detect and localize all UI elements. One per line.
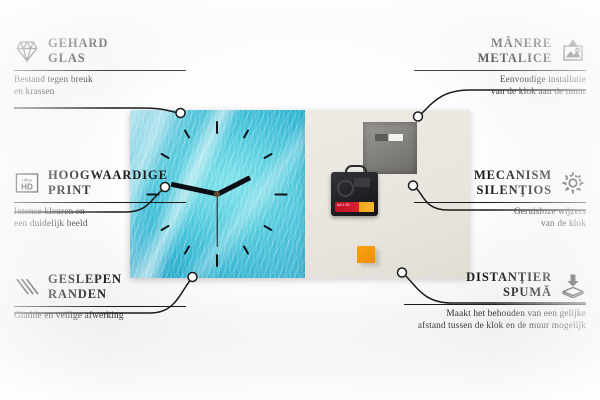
ultra-hd-icon: ultra HD <box>14 170 40 196</box>
foam-spacer <box>357 246 375 263</box>
callout-header-mecanism-silentios: MECANISM SILENŢIOS <box>414 168 586 199</box>
callout-rule <box>414 70 586 71</box>
infographic-canvas: AA 1.5V <box>0 0 600 400</box>
diamond-icon <box>14 38 40 64</box>
callout-hoogwaardige-print: ultra HD HOOGWAARDIGE PRINT Intense kleu… <box>14 168 186 231</box>
picture-hanger-icon <box>560 38 586 64</box>
callout-rule <box>414 202 586 203</box>
metal-hanger-plate <box>363 122 417 174</box>
callout-desc-distantier-spuma: Maakt het behouden van een gelijke afsta… <box>404 308 586 333</box>
callout-rule <box>14 70 186 71</box>
callout-mecanism-silentios: MECANISM SILENŢIOS Geruisloze wijzers va… <box>414 168 586 231</box>
callout-rule <box>404 304 586 305</box>
callout-desc-geslepen-randen: Gladde en veilige afwerking <box>14 310 186 322</box>
callout-title-manere-metalice: MÂNERE METALICE <box>478 36 552 67</box>
gear-icon <box>560 170 586 196</box>
foam-spacer-icon <box>560 272 586 298</box>
callout-desc-gehard-glas: Bestand tegen breuk en krassen <box>14 74 186 99</box>
battery-label: AA 1.5V <box>335 202 374 212</box>
callout-distantier-spuma: DISTANŢIER SPUMĂ Maakt het behouden van … <box>404 270 586 333</box>
svg-text:HD: HD <box>21 183 33 192</box>
callout-title-mecanism-silentios: MECANISM SILENŢIOS <box>474 168 552 199</box>
callout-title-gehard-glas: GEHARD GLAS <box>48 36 108 67</box>
center-cap <box>214 191 220 197</box>
callout-geslepen-randen: GESLEPEN RANDEN Gladde en veilige afwerk… <box>14 272 186 322</box>
mechanism-dial-icon <box>337 180 354 197</box>
mechanism-panel <box>354 178 370 187</box>
callout-desc-manere-metalice: Eenvoudige installatie van de klok aan d… <box>414 74 586 99</box>
clock-mechanism: AA 1.5V <box>331 172 378 216</box>
beveled-edges-icon <box>14 274 40 300</box>
callout-desc-hoogwaardige-print: Intense kleuren en een duidelijk beeld <box>14 206 186 231</box>
callout-header-manere-metalice: MÂNERE METALICE <box>414 36 586 67</box>
callout-manere-metalice: MÂNERE METALICE Eenvoudige installatie v… <box>414 36 586 99</box>
tick-6 <box>216 254 218 267</box>
battery-label-text: AA 1.5V <box>337 203 350 207</box>
second-hand <box>216 195 217 247</box>
callout-rule <box>14 306 186 307</box>
callout-header-gehard-glas: GEHARD GLAS <box>14 36 186 67</box>
callout-header-distantier-spuma: DISTANŢIER SPUMĂ <box>404 270 586 301</box>
tick-12 <box>216 121 218 134</box>
callout-desc-mecanism-silentios: Geruisloze wijzers van de klok <box>414 206 586 231</box>
tick-3 <box>275 194 288 196</box>
mechanism-hang-loop <box>345 165 367 177</box>
callout-header-hoogwaardige-print: ultra HD HOOGWAARDIGE PRINT <box>14 168 186 199</box>
hanger-slot <box>375 134 403 141</box>
callout-gehard-glas: GEHARD GLAS Bestand tegen breuk en krass… <box>14 36 186 99</box>
callout-title-distantier-spuma: DISTANŢIER SPUMĂ <box>466 270 552 301</box>
callout-title-geslepen-randen: GESLEPEN RANDEN <box>48 272 122 303</box>
callout-title-hoogwaardige-print: HOOGWAARDIGE PRINT <box>48 168 168 199</box>
callout-rule <box>14 202 186 203</box>
callout-header-geslepen-randen: GESLEPEN RANDEN <box>14 272 186 303</box>
